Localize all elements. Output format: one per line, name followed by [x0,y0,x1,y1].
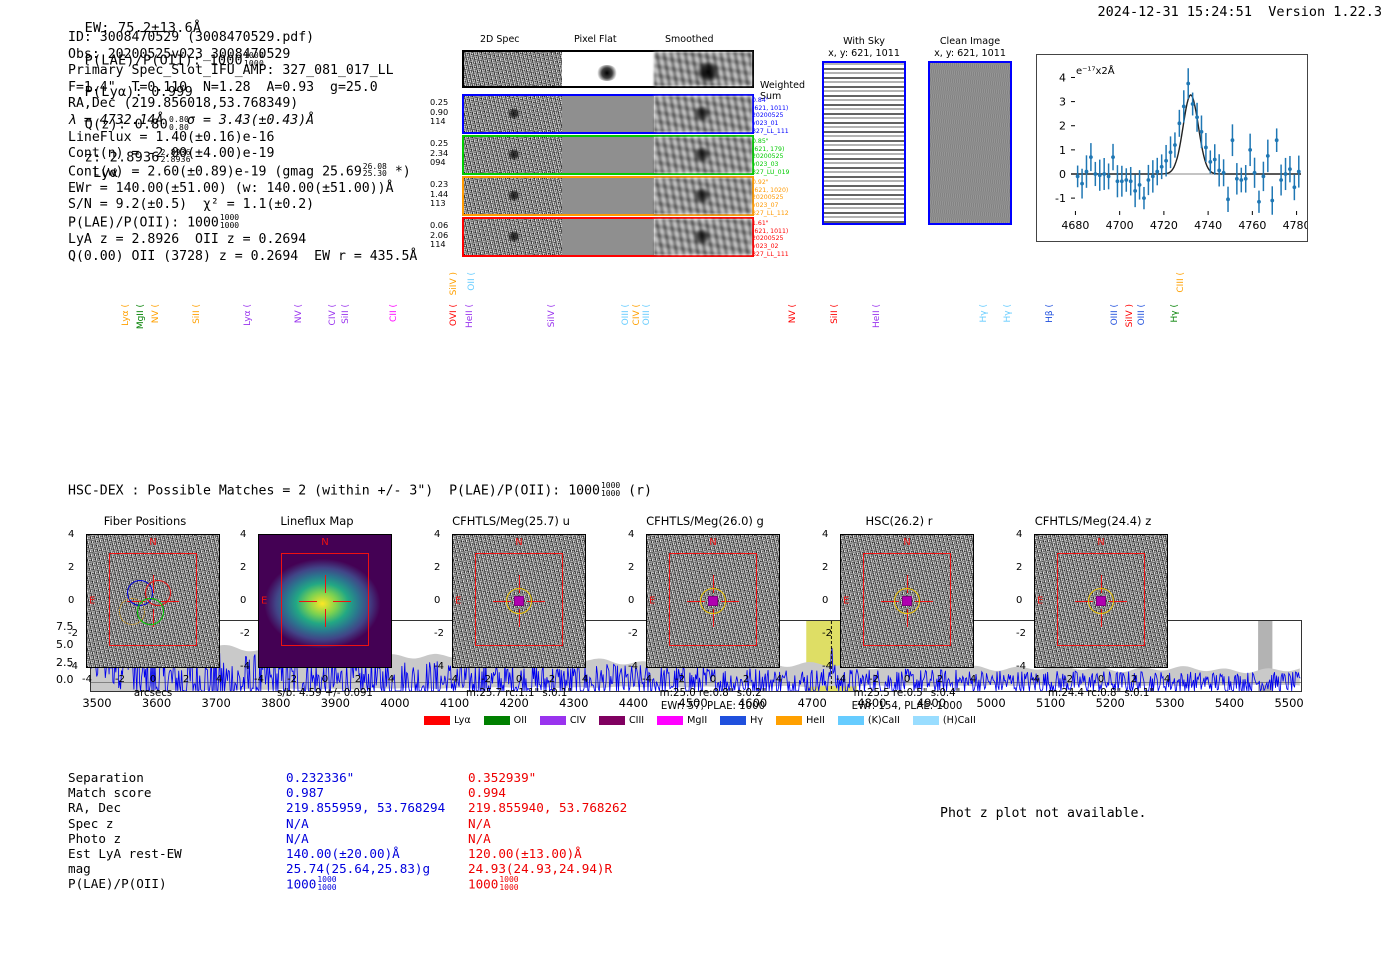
emission-line-label: NV ( [294,304,304,323]
svg-text:4: 4 [1059,71,1066,84]
cutout-title: CFHTLS/Meg(24.4) z [1016,514,1170,528]
east-marker: E [843,596,849,607]
legend-item: CIV [540,715,586,726]
emission-line-label: CIV ( [328,304,338,325]
emission-line-label: Hγ ( [1003,304,1013,322]
cutout-ytick: -2 [1016,628,1026,639]
table-row-value-1: 100010001000 [286,876,337,892]
cutout-ytick: 0 [434,595,440,606]
cutout-ytick: 2 [822,562,828,573]
cutout-image[interactable]: NE [86,534,220,668]
cutout-xtick: -4 [82,674,92,685]
emission-line-label: OII ( [467,272,477,291]
cutout-xtick: 0 [1098,674,1104,685]
cutout-xtick: -4 [254,674,264,685]
svg-text:4700: 4700 [1106,219,1134,232]
twod-spectrum-montage: 2D Spec Pixel Flat Smoothed Weighted Sum… [462,34,754,257]
row-2dspec [464,178,562,214]
emission-line-label: OIII ( [621,304,631,325]
legend-swatch [720,716,746,725]
legend-label: Lyα [454,715,470,726]
legend-label: MgII [687,715,707,726]
table-row-label: Photo z [68,831,121,846]
emission-line-label: NV ( [788,304,798,323]
cutout-ytick: 0 [1016,595,1022,606]
row-2dspec [464,219,562,255]
table-row-value-1: 25.74(25.64,25.83)g [286,861,430,876]
row-pixelflat [562,137,654,173]
svg-text:3: 3 [1059,96,1066,109]
legend-item: CIII [599,715,644,726]
legend-item: Lyα [424,715,470,726]
info-radec: RA,Dec (219.856018,53.768349) [68,96,298,111]
cutout-ytick: -2 [68,628,78,639]
legend-label: CIII [629,715,644,726]
info-lambda: λ = 4732.14Å σ = 3.43(±0.43)Å [68,113,314,128]
cutout-panel: CFHTLS/Meg(24.4) zNE420-2-4-4-2024m:24.4… [1016,534,1170,668]
legend-label: OII [514,715,527,726]
emission-line-label: OIII ( [642,304,652,325]
cutout-ytick: 2 [434,562,440,573]
clean-image-image [928,61,1012,225]
row-2dspec [464,137,562,173]
cutout-ytick: -4 [628,661,638,672]
emission-line-label: SiII ( [192,304,202,324]
cutout-xtick: 0 [150,674,156,685]
north-marker: N [1097,537,1104,548]
emission-line-label: CIV ( [632,304,642,325]
cutout-ytick: -4 [434,661,444,672]
north-marker: N [515,537,522,548]
cutout-caption: s/b: 4.59 +/- 0.091 [258,688,392,701]
info-fwhm: F=1.4" T=0.110 N=1.28 A=0.93 g=25.0 [68,80,378,95]
cutout-xtick: 2 [355,674,361,685]
table-row-value-2: 219.855940, 53.768262 [468,800,627,815]
cutout-xtick: -2 [675,674,685,685]
info-sn: S/N = 9.2(±0.5) χ² = 1.1(±0.2) [68,197,314,212]
table-row-value-1: N/A [286,831,309,846]
table-row-value-2: 0.994 [468,785,506,800]
cutout-red-box [281,553,368,645]
spectrum-xtick: 4400 [619,696,648,710]
cutout-caption-line1: m:24.4 rc:0.8" s:0.1" [1034,688,1168,701]
cutout-xtick: 2 [937,674,943,685]
spectrum-xtick: 5500 [1274,696,1303,710]
cutout-xtick: 2 [743,674,749,685]
legend-swatch [913,716,939,725]
cutout-panel: Fiber PositionsNE420-2-4-4-2024arcsecs [68,534,222,668]
cutout-ytick: 4 [628,529,634,540]
legend-label: CIV [570,715,586,726]
cutout-xtick: 4 [970,674,976,685]
emission-line-label: SiII ( [341,304,351,324]
photz-note: Phot z plot not available. [940,806,1146,821]
cutout-caption: m:25.5 re:0.5" s:0.4"EWr: 154, PLAE: 100… [840,688,974,713]
table-row-value-1: 0.232336" [286,770,354,785]
table-row-label: Match score [68,785,151,800]
cutout-title: Fiber Positions [68,514,222,528]
row-smoothed [654,96,752,132]
cutout-xtick: -2 [115,674,125,685]
cutout-ytick: -4 [1016,661,1026,672]
cutout-ytick: -4 [822,661,832,672]
cutout-xtick: 4 [388,674,394,685]
info-cont-w: Cont(w) = 2.60(±0.89)e-19 (gmag 25.69 [68,164,362,179]
legend-swatch [540,716,566,725]
emission-line-label: SiIV ) [449,272,459,295]
timestamp-version: 2024-12-31 15:24:51 Version 1.22.3 [1098,4,1382,20]
cutout-xtick: 2 [549,674,555,685]
montage-row: 0.250.901140.84"(621, 1011)20200525v023_… [462,94,754,134]
info-cont-w-tail: *) [395,164,411,179]
cutout-caption: arcsecs [86,688,220,701]
cutout-xtick: 4 [1164,674,1170,685]
emission-line-label: SiIV ( [547,304,557,327]
legend-swatch [484,716,510,725]
cutout-xtick: -4 [448,674,458,685]
legend-item: Hγ [720,715,763,726]
east-marker: E [261,596,267,607]
cutout-ytick: -4 [240,661,250,672]
table-row-label: mag [68,861,91,876]
montage-row: 0.252.340940.85"(621, 179)20200525v023_0… [462,135,754,175]
cutout-ytick: -2 [628,628,638,639]
cutout-caption-line1: m:25.5 re:0.5" s:0.4" [840,688,974,701]
cutout-ytick: 0 [628,595,634,606]
cutout-caption: m:24.4 rc:0.8" s:0.1" [1034,688,1168,701]
cutout-panel: CFHTLS/Meg(25.7) uNE420-2-4-4-2024m:25.7… [434,534,588,668]
montage-exposure-rows: 0.250.901140.84"(621, 1011)20200525v023_… [462,94,754,257]
cutout-ytick: -2 [434,628,444,639]
east-marker: E [455,596,461,607]
emission-line-label: NV ( [151,304,161,323]
weighted-sum-smoothed [654,52,752,86]
cutout-caption-line1: s/b: 4.59 +/- 0.091 [258,688,392,701]
cutout-title: HSC(26.2) r [822,514,976,528]
cutout-caption: m:25.0 re:0.8" s:0.2"EWr: 57, PLAE: 1000 [646,688,780,713]
table-row-value-1: N/A [286,816,309,831]
montage-column-labels: 2D Spec Pixel Flat Smoothed [462,34,754,48]
cutout-ytick: 4 [68,529,74,540]
cutout-image[interactable]: NE [840,534,974,668]
cutout-xtick: 0 [904,674,910,685]
with-sky-title: With Sky [822,36,906,48]
cutout-title: CFHTLS/Meg(25.7) u [434,514,588,528]
cutout-xtick: -4 [642,674,652,685]
table-row-value-2: N/A [468,816,491,831]
cutout-xtick: -2 [1063,674,1073,685]
object-info-block: ID: 3008470529 (3008470529.pdf) Obs: 202… [68,30,417,265]
emission-line-label: CII ( [389,304,399,322]
table-row-value-2: 24.93(24.93,24.94)R [468,861,612,876]
north-marker: N [321,537,328,548]
row-left-values: 0.252.34094 [430,139,448,168]
cutout-ytick: -4 [68,661,78,672]
legend-label: Hγ [750,715,763,726]
info-q-line: Q(0.00) OII (3728) z = 0.2694 EW r = 435… [68,249,417,264]
cutout-panel: Lineflux MapNE420-2-4-4-2024s/b: 4.59 +/… [240,534,394,668]
cutout-ytick: 2 [240,562,246,573]
emission-line-label: HeII ( [465,304,475,328]
cutout-ytick: 0 [68,595,74,606]
clean-image-panel: Clean Image x, y: 621, 1011 [928,36,1012,225]
emission-line-label: Hβ ( [1045,304,1055,323]
svg-text:2: 2 [1059,120,1066,133]
emission-line-label: SiIV ) [1125,304,1135,327]
cutout-ytick: 0 [240,595,246,606]
svg-text:4760: 4760 [1238,219,1266,232]
svg-text:4720: 4720 [1150,219,1178,232]
emission-line-label: Hγ ( [979,304,989,322]
table-row-value-1: 219.855959, 53.768294 [286,800,445,815]
cutout-ytick: 4 [1016,529,1022,540]
table-row-value-1: 140.00(±20.00)Å [286,846,400,861]
line-fit-plot: -101234468047004720474047604780e⁻¹⁷x2Å [1036,54,1308,242]
svg-text:1: 1 [1059,144,1066,157]
spectrum-xtick: 5000 [976,696,1005,710]
spectrum-legend: LyαOIICIVCIIIMgIIHγHeII(K)CaII(H)CaII [0,715,1400,726]
table-row-value-2: 100010001000 [468,876,519,892]
hsc-dex-match-line: HSC-DEX : Possible Matches = 2 (within +… [68,482,652,498]
svg-text:4780: 4780 [1283,219,1307,232]
info-cont-n: Cont(n) = -2.00(±4.00)e-19 [68,146,274,161]
cutout-xtick: -4 [836,674,846,685]
cutout-caption: m:25.7 rc:1.1" s:0.1" [452,688,586,701]
table-row-label: Separation [68,770,144,785]
row-left-values: 0.062.06114 [430,221,448,250]
row-smoothed [654,137,752,173]
with-sky-panel: With Sky x, y: 621, 1011 [822,36,906,225]
montage-row: 0.231.441130.92"(621, 1020)20200525v023_… [462,176,754,216]
cutout-image[interactable]: NE [646,534,780,668]
legend-swatch [838,716,864,725]
row-pixelflat [562,96,654,132]
cutout-ytick: 2 [68,562,74,573]
cutout-caption-line2: EWr: 57, PLAE: 1000 [646,701,780,714]
cutout-title: Lineflux Map [240,514,394,528]
info-redshifts: LyA z = 2.8926 OII z = 0.2694 [68,232,306,247]
north-marker: N [149,537,156,548]
east-marker: E [1037,596,1043,607]
row-right-meta: 0.92"(621, 1020)20200525v023_07327_LL_11… [752,179,804,218]
montage-weighted-sum-row [462,50,754,88]
legend-label: (K)CaII [868,715,900,726]
full-spectrum-section: Lyα (MgII (NV (SiII (Lyα (NV (CIV (SiII … [0,272,1400,472]
info-slot: Primary Spec_Slot_IFU_AMP: 327_081_017_L… [68,63,394,78]
legend-swatch [424,716,450,725]
svg-text:0: 0 [1059,168,1066,181]
info-plae: P(LAE)/P(OII): 1000 [68,215,219,230]
info-plae-range: 10001000 [220,214,239,229]
legend-item: HeII [776,715,825,726]
table-row-value-2: 120.00(±13.00)Å [468,846,582,861]
cutout-caption-line1: arcsecs [86,688,220,701]
table-row-value-2: N/A [468,831,491,846]
cutout-ytick: 4 [240,529,246,540]
emission-line-label: OIII ( [1110,304,1120,325]
svg-text:4680: 4680 [1061,219,1089,232]
legend-swatch [599,716,625,725]
cutout-panel: CFHTLS/Meg(26.0) gNE420-2-4-4-2024m:25.0… [628,534,782,668]
spectrum-xtick: 4700 [798,696,827,710]
row-2dspec [464,96,562,132]
row-left-values: 0.231.44113 [430,180,448,209]
emission-line-label: OIII ( [1137,304,1147,325]
with-sky-xy: x, y: 621, 1011 [822,48,906,60]
legend-item: OII [484,715,527,726]
line-fit-svg: -101234468047004720474047604780e⁻¹⁷x2Å [1037,55,1307,241]
cutout-ytick: 4 [434,529,440,540]
emission-line-label: Lyα ( [243,304,253,326]
cutout-caption-line1: m:25.7 rc:1.1" s:0.1" [452,688,586,701]
cutout-ytick: 0 [822,595,828,606]
emission-line-label: OVI ( [449,304,459,326]
cutout-image[interactable]: NE [1034,534,1168,668]
legend-swatch [657,716,683,725]
weighted-sum-2dspec [464,52,562,86]
montage-col-pixelflat: Pixel Flat [574,34,617,45]
east-marker: E [649,596,655,607]
cutout-caption-line1: m:25.0 re:0.8" s:0.2" [646,688,780,701]
cutout-xtick: 2 [183,674,189,685]
cutout-caption-line2: EWr: 154, PLAE: 1000 [840,701,974,714]
montage-col-2dspec: 2D Spec [480,34,520,45]
cutout-xtick: -2 [869,674,879,685]
row-pixelflat [562,219,654,255]
info-ewr: EWr = 140.00(±51.00) (w: 140.00(±51.00))… [68,181,394,196]
cutout-ytick: 2 [1016,562,1022,573]
info-obs: Obs: 20200525v023_3008470529 [68,47,290,62]
north-marker: N [709,537,716,548]
emission-line-label: SiII ( [830,304,840,324]
montage-col-smoothed: Smoothed [665,34,714,45]
cutout-xtick: 4 [216,674,222,685]
cutout-xtick: 2 [1131,674,1137,685]
cutout-xtick: 0 [322,674,328,685]
info-id: ID: 3008470529 (3008470529.pdf) [68,30,314,45]
table-row-value-1: 0.987 [286,785,324,800]
legend-item: (H)CaII [913,715,976,726]
cutout-ytick: -2 [240,628,250,639]
emission-line-label: HeII ( [872,304,882,328]
emission-line-label: CIII ( [1176,272,1186,293]
legend-item: (K)CaII [838,715,900,726]
spectrum-xtick: 5400 [1215,696,1244,710]
cutout-xtick: -4 [1030,674,1040,685]
table-row-label: RA, Dec [68,800,121,815]
cutout-xtick: 0 [710,674,716,685]
cutout-image[interactable]: NE [452,534,586,668]
cutout-ytick: 4 [822,529,828,540]
svg-text:e⁻¹⁷x2Å: e⁻¹⁷x2Å [1076,64,1115,77]
cutout-ytick: -2 [822,628,832,639]
svg-text:4740: 4740 [1194,219,1222,232]
cutout-xtick: 4 [776,674,782,685]
emission-line-label: Lyα ( [121,304,131,326]
legend-swatch [776,716,802,725]
cutout-xtick: 0 [516,674,522,685]
info-lineflux: LineFlux = 1.40(±0.16)e-16 [68,130,274,145]
row-left-values: 0.250.90114 [430,98,448,127]
info-gmag-range: 26.0825.30 [363,163,387,178]
east-marker: E [89,596,95,607]
legend-label: HeII [806,715,825,726]
table-row-label: P(LAE)/P(OII) [68,876,167,891]
table-row-label: Spec z [68,816,114,831]
row-right-meta: 0.84"(621, 1011)20200525v023_01327_LL_11… [752,97,804,136]
clean-image-title: Clean Image [928,36,1012,48]
clean-image-xy: x, y: 621, 1011 [928,48,1012,60]
row-pixelflat [562,178,654,214]
legend-item: MgII [657,715,707,726]
legend-label: (H)CaII [943,715,976,726]
row-smoothed [654,219,752,255]
row-right-meta: 0.85"(621, 179)20200525v023_03327_LU_019 [752,138,804,177]
cutout-xtick: -2 [287,674,297,685]
emission-line-label: MgII ( [136,304,146,329]
row-smoothed [654,178,752,214]
north-marker: N [903,537,910,548]
svg-text:-1: -1 [1055,192,1066,205]
montage-row: 0.062.061141.61"(621, 1011)20200525v023_… [462,217,754,257]
cutout-title: CFHTLS/Meg(26.0) g [628,514,782,528]
table-row-value-2: 0.352939" [468,770,536,785]
cutout-xtick: -2 [481,674,491,685]
cutout-panel: HSC(26.2) rNE420-2-4-4-2024m:25.5 re:0.5… [822,534,976,668]
table-row-label: Est LyA rest-EW [68,846,182,861]
cutout-image[interactable]: NE [258,534,392,668]
emission-line-label: Hγ ( [1170,304,1180,322]
cutout-xtick: 4 [582,674,588,685]
cutout-ytick: 2 [628,562,634,573]
with-sky-image [822,61,906,225]
hsc-plae-range: 10001000 [601,482,620,497]
row-right-meta: 1.61"(621, 1011)20200525v023_02327_LL_11… [752,220,804,259]
